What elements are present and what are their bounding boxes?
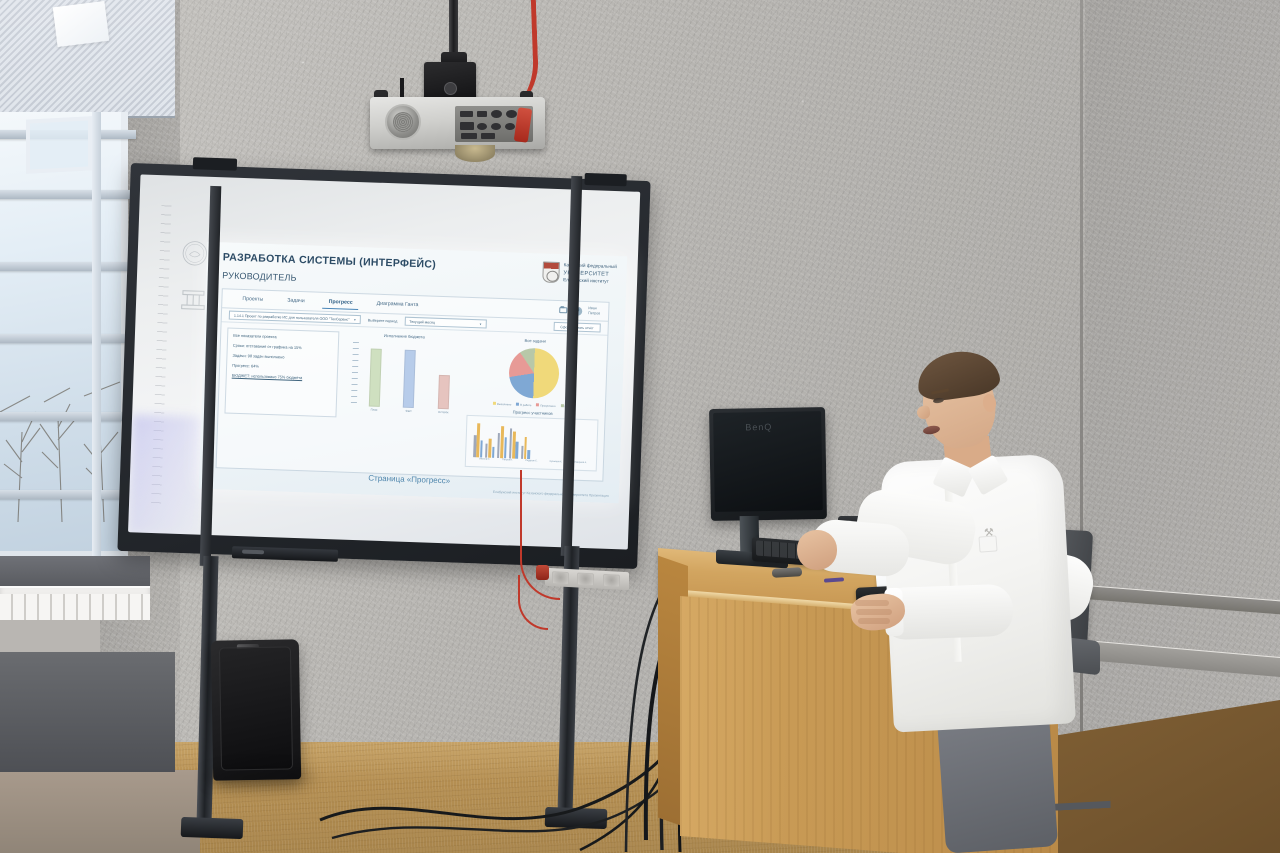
participant-label: Сидоров С. bbox=[525, 460, 537, 462]
participant-label: Иванов И. bbox=[479, 458, 490, 460]
project-select-value: 1.14.1 Проект по разработке ИС для польз… bbox=[234, 313, 350, 321]
budget-chart-bars bbox=[357, 340, 463, 410]
monitor: BenQ bbox=[709, 407, 827, 521]
trees-outside-icon bbox=[0, 292, 128, 522]
window-vent-pane[interactable] bbox=[26, 116, 92, 173]
budget-bar-label: План bbox=[360, 407, 388, 412]
user-first-name: Иван bbox=[588, 306, 597, 310]
right-wall bbox=[1085, 0, 1280, 800]
classroom-scene: РАЗРАБОТКА СИСТЕМЫ (ИНТЕРФЕЙС) РУКОВОДИТ… bbox=[0, 0, 1280, 853]
tab-tasks[interactable]: Задачи bbox=[275, 297, 317, 304]
tab-projects[interactable]: Проекты bbox=[230, 296, 275, 304]
kfu-shield-icon bbox=[542, 261, 560, 283]
app-toolbar: Иван Петров bbox=[559, 305, 600, 316]
participant-bar-group bbox=[497, 426, 507, 458]
finger bbox=[855, 600, 889, 606]
monitor-brand-label: BenQ bbox=[745, 422, 772, 432]
participant-bar bbox=[480, 440, 483, 457]
wall-socket[interactable] bbox=[577, 572, 594, 586]
window-security-bar bbox=[0, 262, 136, 271]
window-security-bar bbox=[0, 412, 136, 421]
floor-left-section bbox=[0, 770, 200, 853]
kpi-schedule: Сроки: отставание от графика на 15% bbox=[233, 344, 333, 352]
shirt-emblem-icon: ⚒ bbox=[984, 526, 995, 540]
finger bbox=[858, 618, 890, 624]
paper-sheet-on-blind bbox=[53, 1, 109, 47]
projector-speaker-grille-icon bbox=[385, 104, 421, 140]
participant-bar-group bbox=[521, 437, 531, 459]
kpi-budget: БЮДЖЕТ: использовано 75% бюджета bbox=[232, 374, 332, 382]
kpi-card: Все показатели проекта Сроки: отставание… bbox=[224, 327, 339, 417]
window-sill bbox=[0, 556, 150, 586]
app-mockup: Проекты Задачи Прогресс Диаграмма Ганта … bbox=[216, 288, 610, 481]
presenter-left-fist bbox=[797, 530, 837, 570]
institute-logo-icon bbox=[178, 286, 209, 313]
budget-bar-label: Остаток bbox=[429, 410, 457, 415]
participant-label: Смирнов А. bbox=[574, 462, 586, 464]
board-stand-foot-left bbox=[181, 817, 244, 839]
period-select-value: Текущий месяц bbox=[409, 319, 435, 324]
board-top-clip bbox=[584, 173, 626, 186]
wall-texture-right bbox=[1085, 0, 1280, 800]
university-seal-icon bbox=[181, 240, 208, 267]
red-plug bbox=[536, 565, 549, 580]
budget-bar bbox=[438, 375, 450, 409]
participant-bar bbox=[504, 437, 507, 458]
tasks-pie-wrap bbox=[467, 341, 601, 406]
finger bbox=[856, 609, 892, 615]
window-blind bbox=[0, 0, 175, 118]
period-label: Выберите период bbox=[368, 318, 398, 323]
budget-bar-label: Факт bbox=[395, 408, 423, 413]
window-security-bar bbox=[0, 190, 136, 199]
tasks-pie-chart bbox=[508, 347, 560, 399]
keys bbox=[772, 567, 802, 578]
participant-bar bbox=[527, 450, 530, 459]
chevron-down-icon: ▾ bbox=[480, 322, 482, 326]
participant-bar bbox=[515, 442, 518, 459]
pie-legend-item: Просрочено bbox=[536, 403, 555, 408]
period-select[interactable]: Текущий месяц ▾ bbox=[404, 317, 486, 329]
kpi-progress: Прогресс: 64% bbox=[232, 364, 332, 372]
tab-gantt[interactable]: Диаграмма Ганта bbox=[365, 300, 431, 308]
user-name: Иван Петров bbox=[588, 306, 600, 316]
window-security-bar bbox=[0, 490, 136, 499]
tab-progress[interactable]: Прогресс bbox=[317, 299, 365, 307]
radiator bbox=[0, 586, 150, 620]
participant-label: Кузнецов К. bbox=[550, 461, 563, 463]
participant-bar bbox=[492, 447, 495, 458]
project-select[interactable]: 1.14.1 Проект по разработке ИС для польз… bbox=[229, 311, 361, 325]
wall-socket[interactable] bbox=[552, 571, 569, 585]
kpi-tasks: Задачи: 98 задач выполнено bbox=[232, 354, 332, 362]
participant-bar-group bbox=[485, 439, 495, 458]
kpi-heading: Все показатели проекта bbox=[233, 334, 333, 342]
pie-legend-item: Выполнено bbox=[493, 402, 511, 407]
radiator-fins bbox=[0, 594, 150, 620]
app-body: Все показатели проекта Сроки: отставание… bbox=[217, 322, 608, 481]
participants-chart-bars bbox=[473, 419, 594, 461]
user-last-name: Петров bbox=[588, 311, 600, 315]
speaker-brand-logo bbox=[237, 644, 259, 650]
pie-legend-item: В работе bbox=[516, 403, 531, 408]
under-window-shadow bbox=[0, 652, 175, 772]
window-frame bbox=[0, 112, 128, 557]
projector-lens bbox=[455, 145, 495, 162]
budget-bar-chart: ПланФактОстаток bbox=[343, 340, 464, 418]
participant-label: Петров П. bbox=[502, 459, 513, 461]
board-top-clip bbox=[193, 157, 237, 171]
participants-bar-chart: Иванов И.Петров П.Сидоров С.Кузнецов К.С… bbox=[465, 415, 599, 472]
participant-bar-group bbox=[509, 429, 519, 459]
presenter: ⚒ bbox=[845, 350, 1105, 850]
participant-bar-group bbox=[473, 423, 484, 457]
folder-icon[interactable] bbox=[559, 307, 567, 314]
tasks-charts-panel: Все задачи ВыполненоВ работеПросроченоНо… bbox=[465, 336, 602, 477]
budget-bar bbox=[403, 350, 416, 409]
budget-bar bbox=[369, 348, 382, 407]
budget-chart-panel: Исполнение бюджета ПланФактОстаток bbox=[341, 332, 464, 472]
window-mullion bbox=[92, 112, 101, 557]
board-glare bbox=[128, 414, 202, 536]
chevron-down-icon: ▾ bbox=[354, 317, 356, 321]
window-security-bar bbox=[0, 334, 136, 343]
